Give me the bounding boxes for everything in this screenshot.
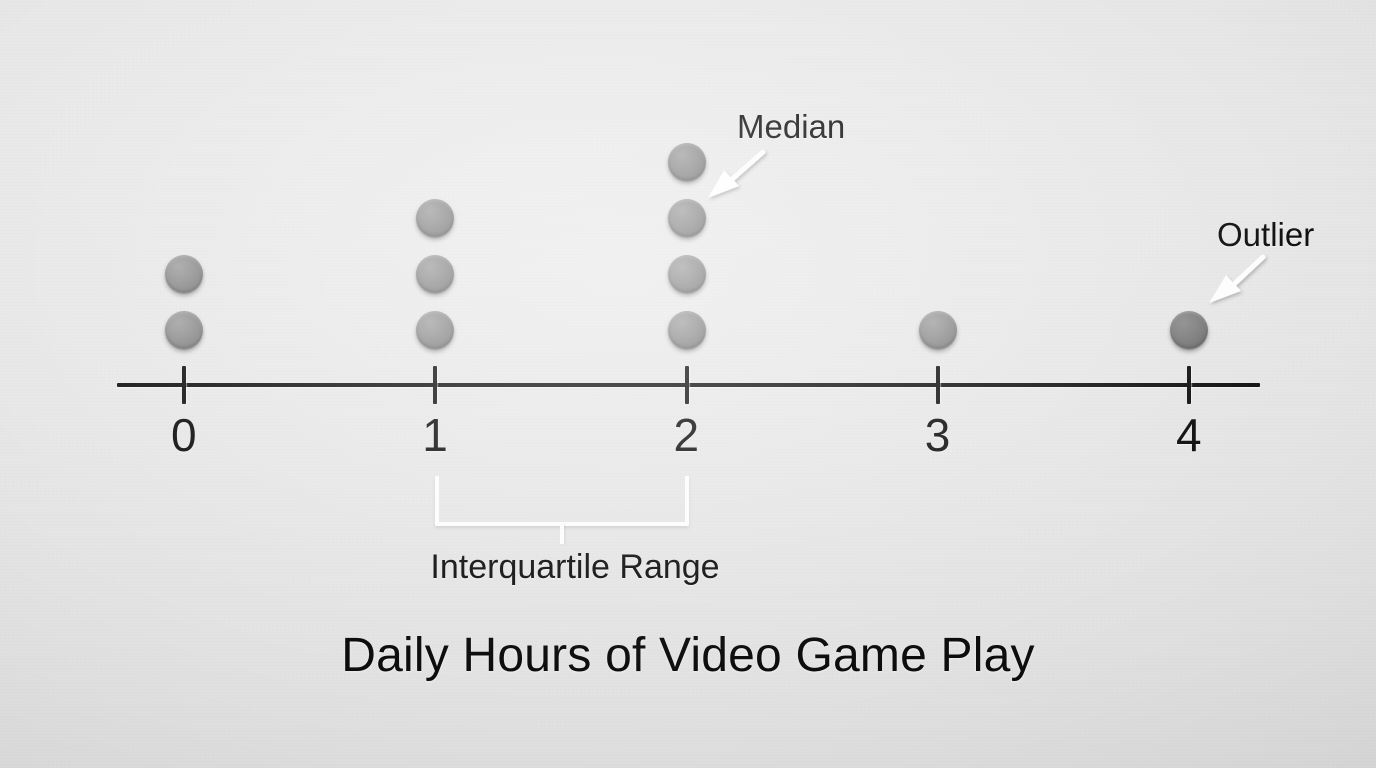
data-dot-x2-n3 — [668, 199, 706, 237]
interquartile-range-bracket — [435, 476, 689, 526]
median-arrow-icon — [708, 152, 763, 198]
data-dot-x3-n1 — [919, 311, 957, 349]
data-dot-x4-n1 — [1170, 311, 1208, 349]
axis-tick-0 — [182, 366, 186, 404]
data-dot-x2-n2 — [668, 255, 706, 293]
outlier-arrow-icon — [1209, 257, 1263, 303]
axis-tick-label-3: 3 — [925, 412, 951, 458]
interquartile-range-bracket-stem — [560, 524, 564, 544]
axis-tick-3 — [936, 366, 940, 404]
data-dot-x1-n1 — [416, 311, 454, 349]
number-line-axis — [117, 383, 1260, 387]
data-dot-x1-n3 — [416, 199, 454, 237]
axis-tick-label-0: 0 — [171, 412, 197, 458]
axis-tick-1 — [433, 366, 437, 404]
interquartile-range-label: Interquartile Range — [430, 550, 719, 584]
outlier-annotation-label: Outlier — [1217, 218, 1314, 251]
dot-plot-figure: 01234 Median Outlier Interquartile Range… — [0, 0, 1376, 768]
axis-tick-label-1: 1 — [422, 412, 448, 458]
data-dot-x0-n1 — [165, 311, 203, 349]
axis-tick-label-4: 4 — [1176, 412, 1202, 458]
median-annotation-label: Median — [737, 110, 845, 143]
axis-tick-label-2: 2 — [673, 412, 699, 458]
data-dot-x2-n1 — [668, 311, 706, 349]
axis-tick-2 — [685, 366, 689, 404]
data-dot-x0-n2 — [165, 255, 203, 293]
axis-tick-4 — [1187, 366, 1191, 404]
chart-title: Daily Hours of Video Game Play — [341, 632, 1034, 680]
data-dot-x1-n2 — [416, 255, 454, 293]
data-dot-x2-n4 — [668, 143, 706, 181]
